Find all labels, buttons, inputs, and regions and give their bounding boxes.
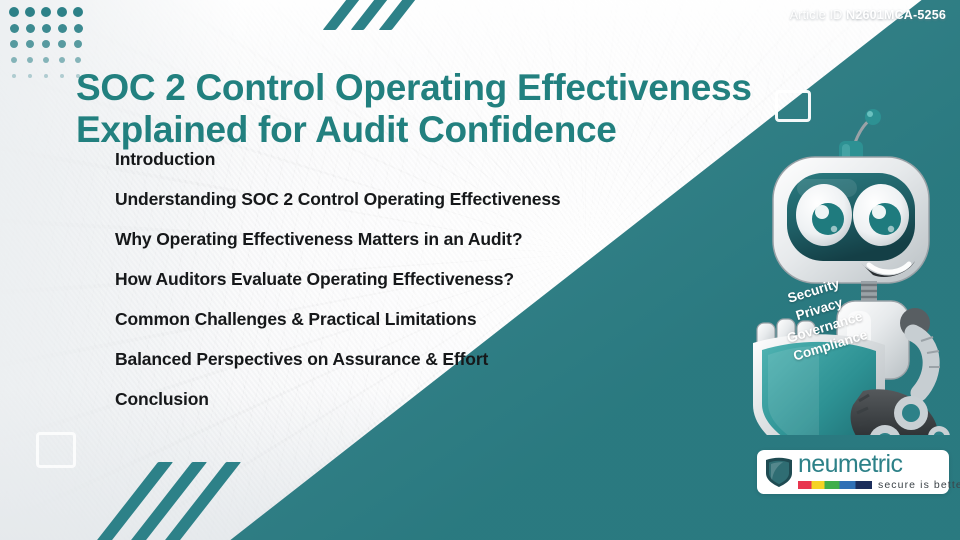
logo-wordmark: neumetric: [798, 453, 960, 477]
shield-icon: [764, 456, 794, 488]
logo-tagline: secure is better: [878, 479, 960, 491]
logo-subline: secure is better: [798, 479, 960, 491]
article-id-label: Article ID: [790, 8, 843, 22]
logo-color-bar: [798, 481, 872, 489]
neumetric-logo[interactable]: neumetric secure is better: [757, 450, 949, 494]
robot-arm-right: [913, 333, 931, 393]
decorative-stripes-bottom: [122, 462, 272, 540]
toc-item-balanced-perspectives[interactable]: Balanced Perspectives on Assurance & Eff…: [115, 340, 715, 380]
toc-item-common-challenges[interactable]: Common Challenges & Practical Limitation…: [115, 300, 715, 340]
decorative-stripes-top: [330, 0, 450, 32]
robot-antenna-bulb: [865, 109, 881, 125]
page-title: SOC 2 Control Operating Effectiveness Ex…: [76, 67, 776, 151]
decorative-dot-grid: [6, 4, 86, 84]
robot-tread-assembly: [851, 389, 950, 435]
article-id: Article ID N2601MCA-5256: [790, 8, 946, 22]
logo-text-block: neumetric secure is better: [798, 453, 960, 492]
article-id-value: N2601MCA-5256: [846, 8, 946, 22]
slide-canvas: Article ID N2601MCA-5256 SOC 2 Control O…: [0, 0, 960, 540]
robot-mascot: Security Privacy Governance Compliance: [735, 105, 960, 435]
toc-item-why-matters[interactable]: Why Operating Effectiveness Matters in a…: [115, 220, 715, 260]
robot-mascot-illustration: [735, 105, 960, 435]
toc-item-introduction[interactable]: Introduction: [115, 140, 715, 180]
toc-item-how-auditors-evaluate[interactable]: How Auditors Evaluate Operating Effectiv…: [115, 260, 715, 300]
toc-item-understanding[interactable]: Understanding SOC 2 Control Operating Ef…: [115, 180, 715, 220]
logo-wordmark-part2: tric: [871, 450, 902, 478]
logo-wordmark-part1: neume: [798, 450, 871, 478]
toc-item-conclusion[interactable]: Conclusion: [115, 380, 715, 420]
table-of-contents: Introduction Understanding SOC 2 Control…: [115, 140, 715, 420]
decorative-square-outline-bottom: [36, 432, 76, 468]
page-title-line-1: SOC 2 Control Operating Effectiveness: [76, 67, 776, 109]
